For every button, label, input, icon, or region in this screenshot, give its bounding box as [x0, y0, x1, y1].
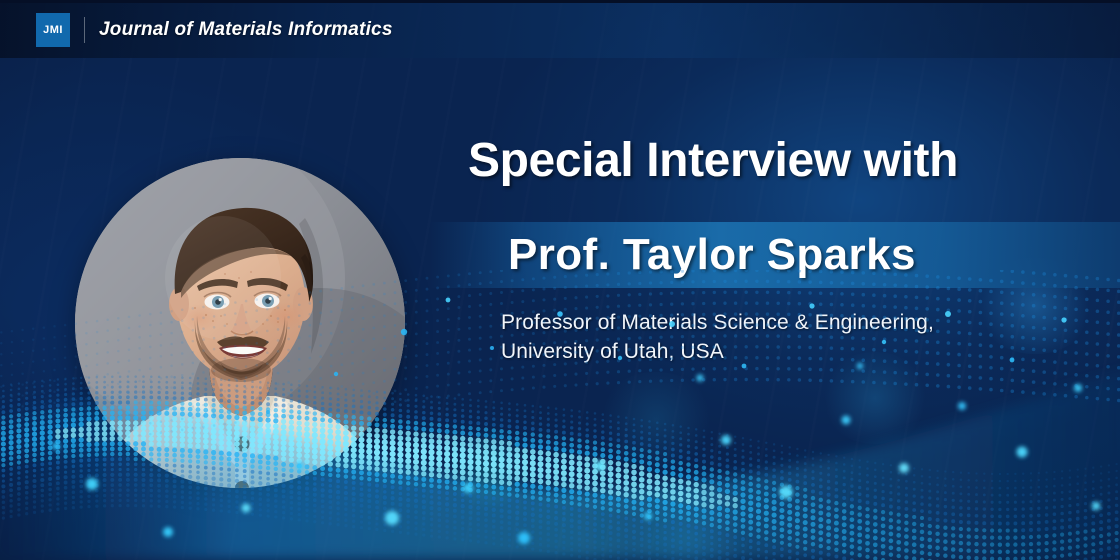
jmi-logo-icon[interactable]: JMI — [36, 13, 70, 47]
brand-lockup[interactable]: JMI Journal of Materials Informatics — [36, 13, 393, 47]
jmi-logo-text: JMI — [43, 24, 63, 36]
particle-wave-decoration — [0, 270, 1120, 560]
banner-canvas: JMI Journal of Materials Informatics — [0, 0, 1120, 560]
header-top-rule — [0, 0, 1120, 3]
brand-divider — [84, 17, 85, 43]
journal-title: Journal of Materials Informatics — [99, 19, 393, 41]
header-bar: JMI Journal of Materials Informatics — [0, 0, 1120, 58]
page-title: Special Interview with — [468, 133, 958, 188]
